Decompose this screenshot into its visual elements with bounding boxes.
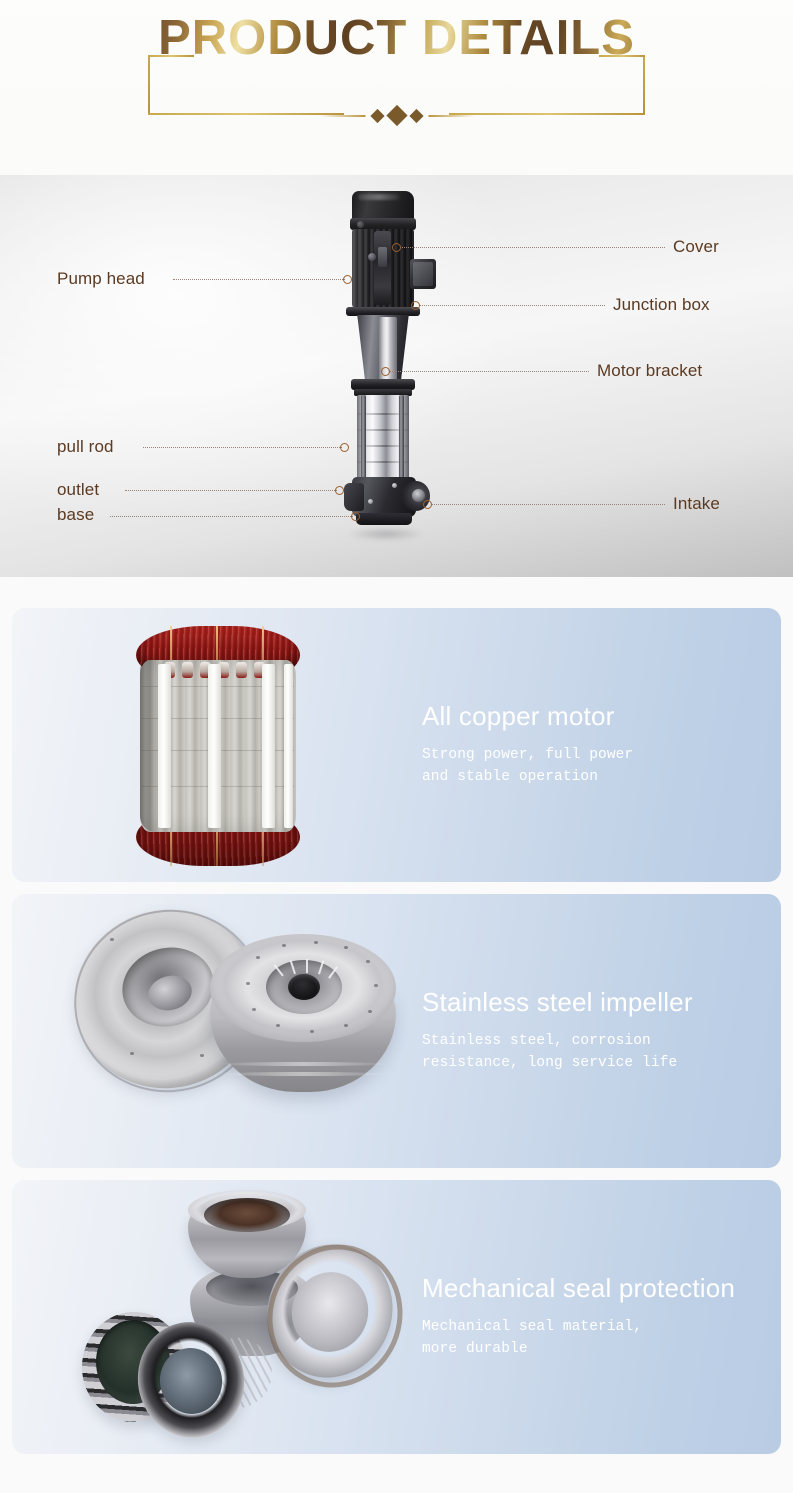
pump-diagram-section: Pump head pull rod outlet base Cover Jun…	[0, 175, 793, 577]
impeller-image	[12, 894, 412, 1168]
page-header: PRODUCT DETAILS	[0, 0, 793, 175]
product-details-page: PRODUCT DETAILS	[0, 0, 793, 1493]
feature-title-3: Mechanical seal protection	[422, 1273, 772, 1304]
diamond-small-right-icon	[409, 108, 423, 122]
mechanical-seal-image	[12, 1180, 412, 1454]
feature-desc-2: Stainless steel, corrosion resistance, l…	[422, 1030, 772, 1075]
frame-bottom-right-rule	[449, 113, 645, 115]
feature-title-1: All copper motor	[422, 701, 772, 732]
divider-rule-left	[319, 115, 365, 117]
leader-line-pump-head	[173, 279, 345, 281]
feature-card-text-2: Stainless steel impeller Stainless steel…	[422, 987, 772, 1075]
marker-base-icon	[351, 512, 360, 521]
feature-desc-3: Mechanical seal material, more durable	[422, 1316, 772, 1361]
feature-card-mechanical-seal: Mechanical seal protection Mechanical se…	[12, 1180, 781, 1454]
leader-line-cover	[400, 247, 665, 249]
feature-card-impeller: Stainless steel impeller Stainless steel…	[12, 894, 781, 1168]
marker-pull-rod-icon	[340, 443, 349, 452]
title-ornament-frame: PRODUCT DETAILS	[148, 55, 645, 115]
leader-line-junction-box	[420, 305, 605, 307]
diagram-label-motor-bracket: Motor bracket	[597, 361, 702, 381]
page-title: PRODUCT DETAILS	[148, 8, 645, 68]
leader-line-motor-bracket	[390, 371, 589, 373]
motor-stator-image	[12, 608, 412, 882]
marker-cover-icon	[392, 243, 401, 252]
diagram-label-outlet: outlet	[57, 480, 99, 500]
divider-rule-right	[428, 115, 474, 117]
marker-motor-bracket-icon	[381, 367, 390, 376]
diamond-divider	[319, 108, 474, 123]
diagram-label-pull-rod: pull rod	[57, 437, 114, 457]
feature-desc-1: Strong power, full power and stable oper…	[422, 744, 772, 789]
diagram-label-intake: Intake	[673, 494, 720, 514]
diagram-label-pump-head: Pump head	[57, 269, 145, 289]
frame-bottom-left-rule	[148, 113, 344, 115]
leader-line-base	[110, 516, 353, 518]
marker-junction-box-icon	[411, 301, 420, 310]
diamond-small-left-icon	[370, 108, 384, 122]
feature-title-2: Stainless steel impeller	[422, 987, 772, 1018]
leader-line-outlet	[125, 490, 337, 492]
diagram-label-base: base	[57, 505, 94, 525]
feature-card-copper-motor: All copper motor Strong power, full powe…	[12, 608, 781, 882]
diagram-label-cover: Cover	[673, 237, 719, 257]
feature-card-text-1: All copper motor Strong power, full powe…	[422, 701, 772, 789]
marker-outlet-icon	[335, 486, 344, 495]
leader-line-intake	[432, 504, 665, 506]
diamond-large-icon	[386, 105, 407, 126]
marker-pump-head-icon	[343, 275, 352, 284]
marker-intake-icon	[423, 500, 432, 509]
feature-card-text-3: Mechanical seal protection Mechanical se…	[422, 1273, 772, 1361]
leader-line-pull-rod	[143, 447, 342, 449]
diagram-label-junction-box: Junction box	[613, 295, 710, 315]
